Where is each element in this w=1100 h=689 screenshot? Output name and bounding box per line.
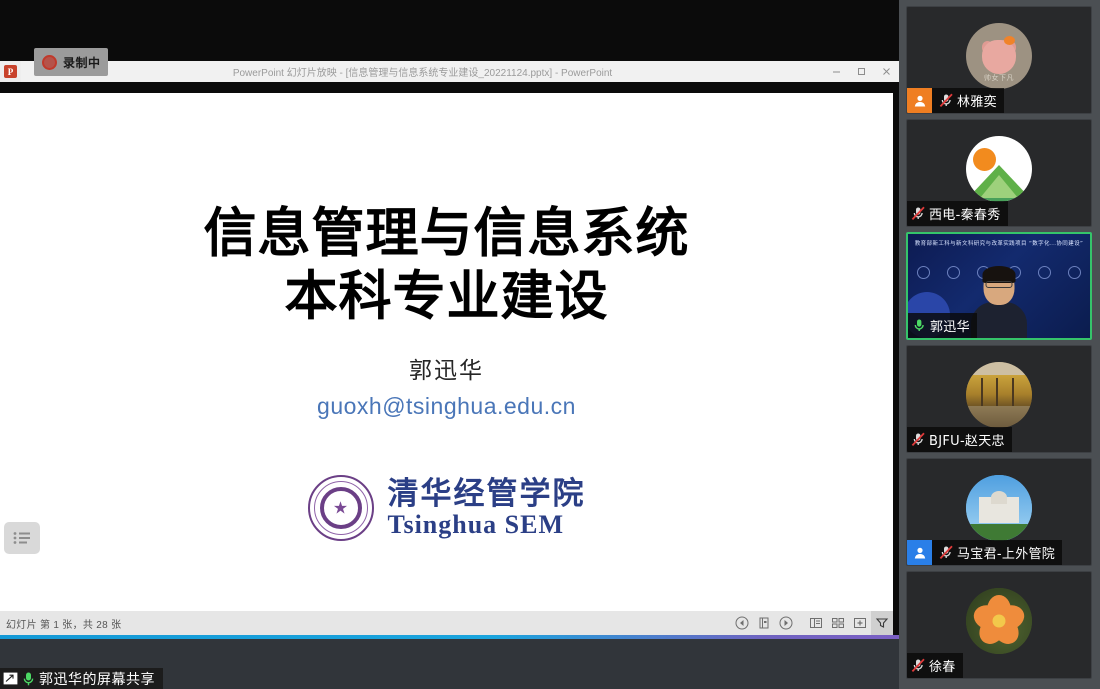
slide-options-icon[interactable] bbox=[4, 522, 40, 554]
participant-name: 马宝君-上外管院 bbox=[957, 543, 1055, 562]
next-slide-button[interactable] bbox=[775, 611, 797, 635]
participant-nameplate: 马宝君-上外管院 bbox=[907, 540, 1062, 565]
screen-share-region: 录制中 P PowerPoint 幻灯片放映 - [信息管理与信息系统专业建设_… bbox=[0, 0, 899, 689]
participant-tile-active-speaker[interactable]: 教育部新工科与新文科研究与改革实践项目 “数字化...协同建设” 郭迅华 bbox=[906, 232, 1092, 340]
more-options-button[interactable] bbox=[871, 611, 893, 635]
slide-title-line-1: 信息管理与信息系统 bbox=[0, 203, 893, 266]
previous-slide-button[interactable] bbox=[731, 611, 753, 635]
video-banner-text: 教育部新工科与新文科研究与改革实践项目 “数字化...协同建设” bbox=[908, 240, 1090, 248]
pen-icon[interactable] bbox=[753, 611, 775, 635]
grid-icon[interactable] bbox=[827, 611, 849, 635]
slide-canvas[interactable]: 信息管理与信息系统 本科专业建设 郭迅华 guoxh@tsinghua.edu.… bbox=[0, 93, 893, 611]
slide-count-label: 幻灯片 第 1 张，共 28 张 bbox=[0, 616, 121, 631]
participant-tile[interactable]: 西电-秦春秀 bbox=[906, 119, 1092, 227]
tsinghua-seal-icon: ★ bbox=[308, 475, 374, 541]
mic-off-icon bbox=[939, 545, 954, 560]
university-logo-icon bbox=[1068, 266, 1081, 279]
recording-indicator: 录制中 bbox=[34, 48, 108, 76]
university-logo-icon bbox=[1038, 266, 1051, 279]
participant-nameplate: BJFU-赵天忠 bbox=[907, 427, 1012, 452]
close-button[interactable] bbox=[874, 61, 899, 82]
powerpoint-title-text: PowerPoint 幻灯片放映 - [信息管理与信息系统专业建设_202211… bbox=[21, 64, 824, 79]
share-owner-text: 郭迅华的屏幕共享 bbox=[39, 669, 155, 689]
mountain-avatar bbox=[966, 136, 1032, 202]
logo-text-block: 清华经管学院 Tsinghua SEM bbox=[388, 479, 586, 538]
mic-on-icon bbox=[912, 318, 927, 333]
autumn-road-avatar bbox=[966, 362, 1032, 428]
flower-avatar bbox=[966, 588, 1032, 654]
participant-name: 徐春 bbox=[929, 656, 956, 675]
notes-panel-icon[interactable] bbox=[805, 611, 827, 635]
share-accent-bar bbox=[0, 635, 899, 639]
participant-tile[interactable]: BJFU-赵天忠 bbox=[906, 345, 1092, 453]
participant-tile[interactable]: 马宝君-上外管院 bbox=[906, 458, 1092, 566]
participant-name: 郭迅华 bbox=[930, 316, 970, 335]
magnify-slide-icon[interactable] bbox=[849, 611, 871, 635]
university-logo-icon bbox=[917, 266, 930, 279]
speaker-webcam-figure bbox=[969, 266, 1029, 338]
recording-label: 录制中 bbox=[63, 54, 101, 71]
logo-chinese-name: 清华经管学院 bbox=[388, 479, 586, 510]
participant-tile[interactable]: 帅女下凡 林雅奕 bbox=[906, 6, 1092, 114]
participant-nameplate: 郭迅华 bbox=[908, 313, 977, 338]
participant-nameplate: 西电-秦春秀 bbox=[907, 201, 1008, 226]
screen-share-icon bbox=[3, 672, 18, 685]
pig-avatar: 帅女下凡 bbox=[966, 23, 1032, 89]
person-icon bbox=[907, 88, 932, 113]
participant-name: BJFU-赵天忠 bbox=[929, 430, 1005, 449]
powerpoint-icon: P bbox=[0, 61, 21, 82]
logo-english-name: Tsinghua SEM bbox=[388, 512, 586, 538]
university-logo-icon bbox=[947, 266, 960, 279]
mic-on-icon bbox=[22, 671, 35, 687]
mic-off-icon bbox=[939, 93, 954, 108]
slide-author: 郭迅华 bbox=[0, 351, 893, 385]
participant-video-strip[interactable]: 帅女下凡 林雅奕 西电-秦春秀 教育部新工科与新文科研究与改革实践项目 “数字化… bbox=[899, 0, 1100, 689]
participant-name: 西电-秦春秀 bbox=[929, 204, 1001, 223]
star-icon: ★ bbox=[333, 500, 348, 517]
slide-title-line-2: 本科专业建设 bbox=[0, 266, 893, 329]
mic-off-icon bbox=[911, 432, 926, 447]
building-avatar bbox=[966, 475, 1032, 541]
participant-nameplate: 徐春 bbox=[907, 653, 963, 678]
mic-off-icon bbox=[911, 206, 926, 221]
participant-name: 林雅奕 bbox=[957, 91, 997, 110]
participant-nameplate: 林雅奕 bbox=[907, 88, 1004, 113]
record-dot-icon bbox=[42, 55, 57, 70]
maximize-button[interactable] bbox=[849, 61, 874, 82]
window-controls bbox=[824, 61, 899, 82]
slide-logo: ★ 清华经管学院 Tsinghua SEM bbox=[0, 475, 893, 541]
mic-off-icon bbox=[911, 658, 926, 673]
slideshow-toolbar bbox=[731, 611, 893, 635]
avatar-caption: 帅女下凡 bbox=[966, 73, 1032, 83]
powerpoint-status-bar: 幻灯片 第 1 张，共 28 张 bbox=[0, 611, 893, 635]
slide-email: guoxh@tsinghua.edu.cn bbox=[0, 393, 893, 420]
slide-title: 信息管理与信息系统 本科专业建设 bbox=[0, 203, 893, 328]
minimize-button[interactable] bbox=[824, 61, 849, 82]
share-owner-label: 郭迅华的屏幕共享 bbox=[0, 668, 163, 689]
powerpoint-title-bar: P PowerPoint 幻灯片放映 - [信息管理与信息系统专业建设_2022… bbox=[0, 61, 899, 82]
person-icon bbox=[907, 540, 932, 565]
participant-tile[interactable]: 徐春 bbox=[906, 571, 1092, 679]
